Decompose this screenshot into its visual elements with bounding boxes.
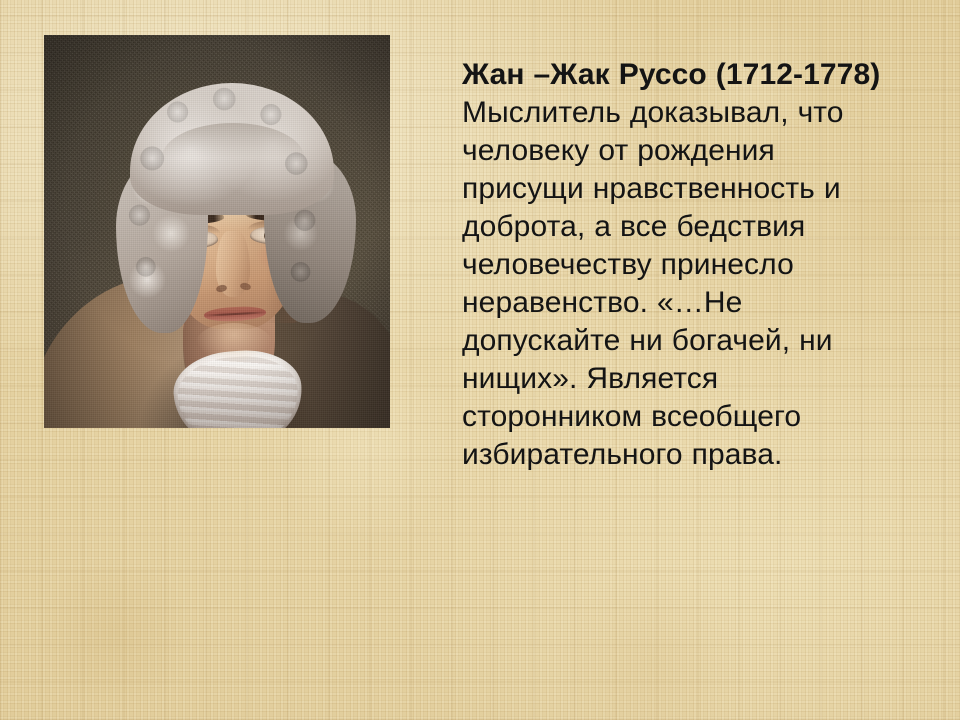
caption-paragraph: Жан –Жак Руссо (1712-1778)Мыслитель дока… <box>462 56 886 474</box>
caption-text-block: Жан –Жак Руссо (1712-1778)Мыслитель дока… <box>462 56 886 474</box>
portrait-chin <box>196 323 272 363</box>
rousseau-portrait-image <box>44 35 390 428</box>
portrait-canvas <box>44 35 390 428</box>
presentation-slide: Жан –Жак Руссо (1712-1778)Мыслитель дока… <box>0 0 960 720</box>
caption-title: Жан –Жак Руссо (1712-1778) <box>462 58 880 91</box>
caption-body: Мыслитель доказывал, что человеку от рож… <box>462 96 844 471</box>
